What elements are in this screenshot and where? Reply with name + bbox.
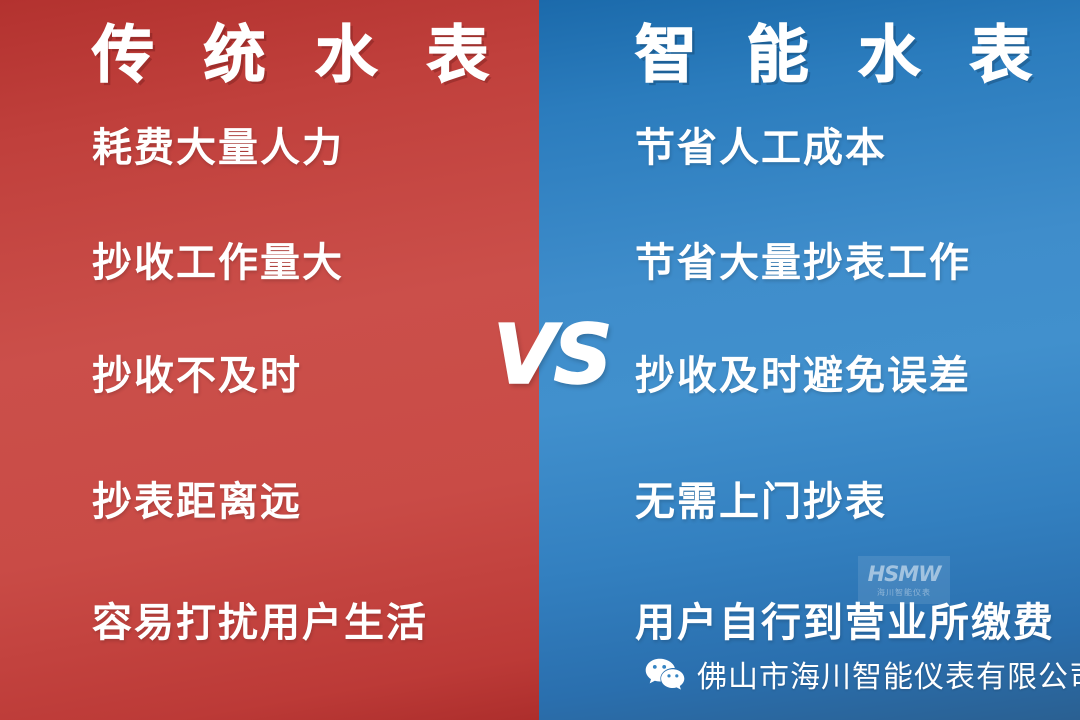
right-feature-item: 节省大量抄表工作: [635, 243, 971, 283]
right-feature-item: 抄收及时避免误差: [635, 356, 971, 396]
left-feature-item: 抄表距离远: [92, 482, 302, 522]
left-feature-item: 抄收不及时: [92, 356, 302, 396]
wechat-icon: [645, 658, 685, 691]
right-feature-item: 节省人工成本: [635, 128, 887, 168]
comparison-poster: 传 统 水 表 耗费大量人力 抄收工作量大 抄收不及时 抄表距离远 容易打扰用户…: [0, 0, 1080, 720]
right-column-title: 智 能 水 表: [635, 24, 1046, 86]
left-feature-item: 容易打扰用户生活: [92, 603, 428, 643]
left-column-title: 传 统 水 表: [92, 24, 503, 86]
left-feature-item: 耗费大量人力: [92, 128, 344, 168]
traditional-meter-column: 传 统 水 表 耗费大量人力 抄收工作量大 抄收不及时 抄表距离远 容易打扰用户…: [0, 0, 539, 720]
vs-divider-label: VS: [493, 315, 610, 397]
left-feature-item: 抄收工作量大: [92, 243, 344, 283]
right-feature-item: 用户自行到营业所缴费: [635, 603, 1055, 643]
footer-brand-row: 佛山市海川智能仪表有限公司: [645, 652, 1080, 696]
company-name: 佛山市海川智能仪表有限公司: [697, 652, 1080, 696]
right-feature-item: 无需上门抄表: [635, 482, 887, 522]
